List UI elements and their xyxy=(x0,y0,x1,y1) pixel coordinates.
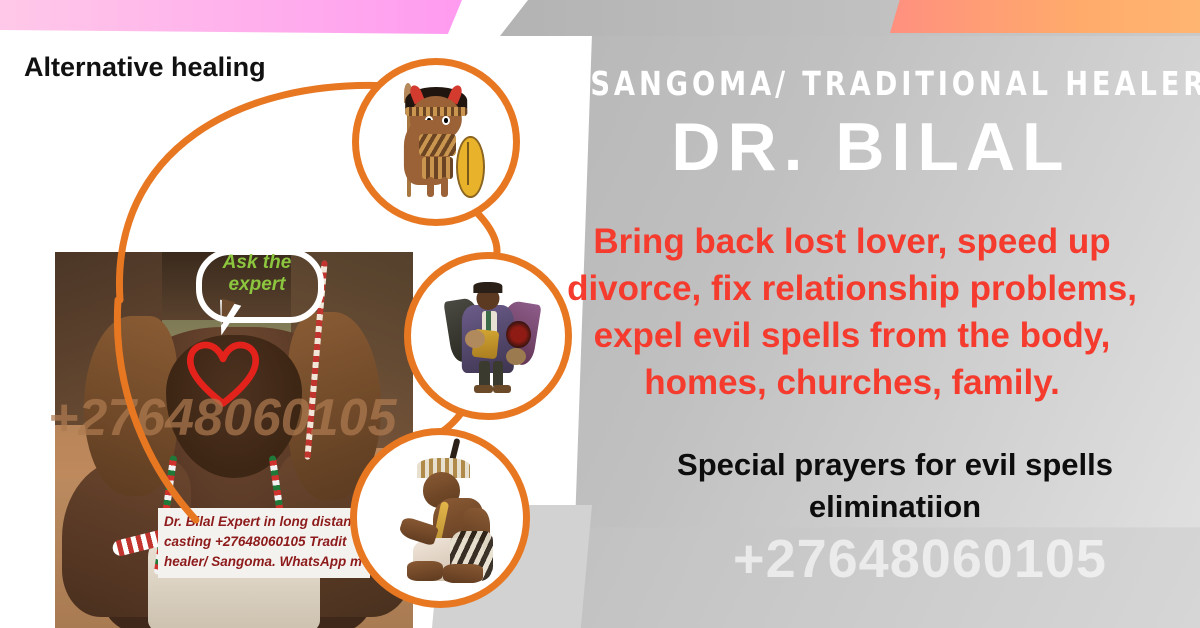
top-bar-pink xyxy=(0,0,462,34)
poster-canvas: Alternative healing Ask the expert +2764… xyxy=(0,0,1200,628)
circle-illustration-dancer xyxy=(350,428,530,608)
healer-leg-right xyxy=(493,361,504,389)
caption-line-2: casting +27648060105 Tradit xyxy=(164,532,364,552)
warrior-leg-right xyxy=(441,177,449,197)
photo-phone-watermark: +27648060105 xyxy=(48,388,397,448)
warrior-skirt xyxy=(422,157,453,179)
caption-line-1: Dr. Bilal Expert in long distan xyxy=(164,512,364,532)
kicker-text: SANGOMA/ TRADITIONAL HEALER xyxy=(590,64,1151,103)
warrior-leg-left xyxy=(427,177,435,197)
phone-watermark: +27648060105 xyxy=(640,528,1200,590)
circle-illustration-warrior xyxy=(352,58,520,226)
healer-foot-left xyxy=(474,385,492,393)
speech-bubble-text: Ask the expert xyxy=(201,252,313,296)
healer-hat xyxy=(473,282,502,293)
healer-foot-right xyxy=(493,385,511,393)
warrior-sash xyxy=(419,134,456,156)
prayers-text: Special prayers for evil spells eliminat… xyxy=(610,444,1180,528)
dancer-leg-left xyxy=(407,561,444,581)
healer-red-emblem xyxy=(506,321,531,349)
photo-caption: Dr. Bilal Expert in long distan casting … xyxy=(158,508,370,578)
healer-leg-left xyxy=(479,361,490,389)
page-title: Alternative healing xyxy=(24,52,266,83)
warrior-headband xyxy=(405,107,467,116)
warrior-pupil-right xyxy=(444,118,448,123)
headline-title: DR. BILAL xyxy=(566,108,1176,186)
caption-line-3: healer/ Sangoma. WhatsApp m xyxy=(164,552,364,572)
healer-bag-left xyxy=(465,330,485,348)
shield-icon xyxy=(456,136,485,199)
top-bar-orange xyxy=(890,0,1200,33)
dancer-leg-right xyxy=(443,564,483,582)
services-text: Bring back lost lover, speed up divorce,… xyxy=(536,218,1168,406)
shield-center-line xyxy=(467,142,469,185)
